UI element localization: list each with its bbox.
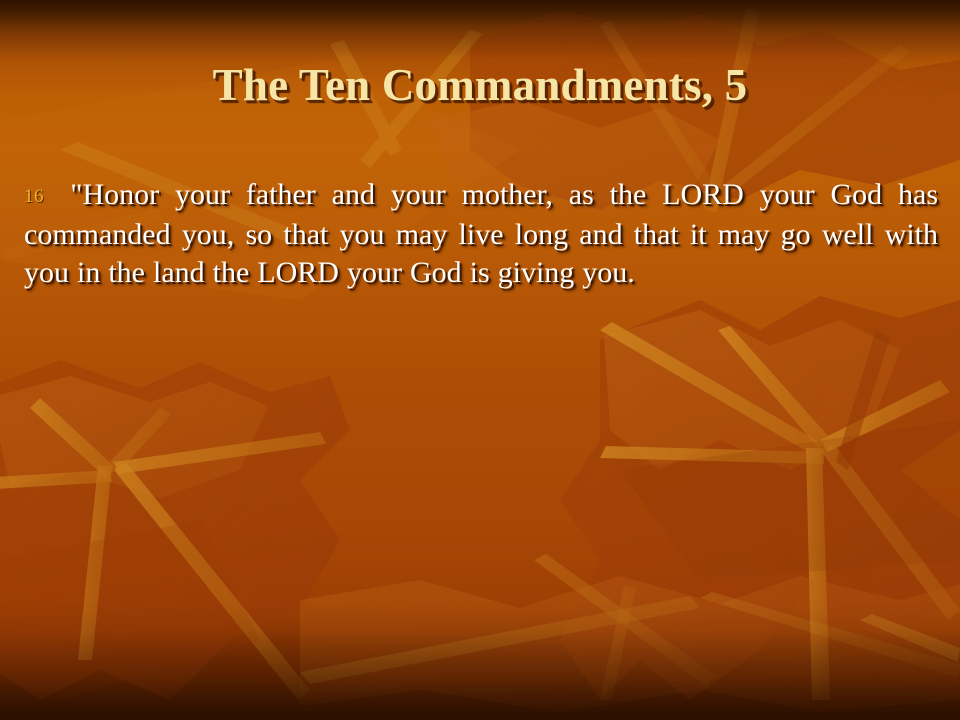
presentation-slide: The Ten Commandments, 5 16 "Honor your f… xyxy=(0,0,960,720)
slide-title: The Ten Commandments, 5 xyxy=(0,62,960,109)
slide-body-text: 16 "Honor your father and your mother, a… xyxy=(24,176,938,292)
slide-content: The Ten Commandments, 5 16 "Honor your f… xyxy=(0,0,960,720)
verse-text: "Honor your father and your mother, as t… xyxy=(24,178,938,289)
verse-number: 16 xyxy=(24,186,70,207)
